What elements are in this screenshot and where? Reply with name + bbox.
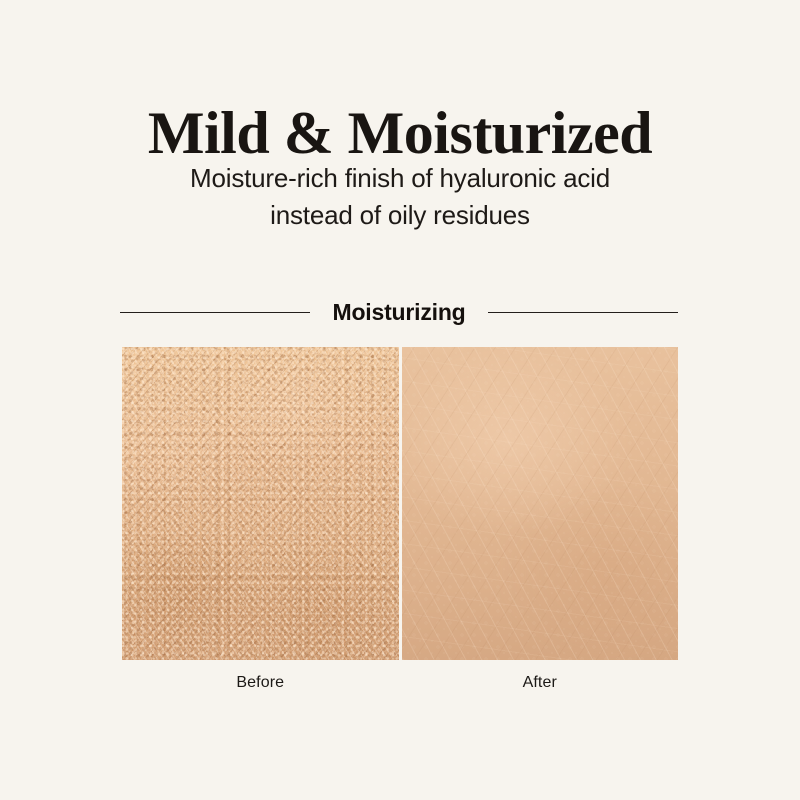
before-image-panel — [122, 347, 399, 660]
subtitle-line-2: instead of oily residues — [100, 197, 700, 234]
divider-rule-right — [488, 312, 678, 313]
divider-rule-left — [120, 312, 310, 313]
after-skin-texture — [402, 347, 679, 660]
subtitle-line-1: Moisture-rich finish of hyaluronic acid — [100, 160, 700, 197]
after-image-panel — [402, 347, 679, 660]
section-label: Moisturizing — [328, 299, 469, 326]
before-caption: Before — [122, 668, 399, 698]
after-caption: After — [402, 668, 679, 698]
product-benefit-card: Mild & Moisturized Moisture-rich finish … — [0, 0, 800, 800]
comparison-captions: Before After — [122, 668, 678, 698]
section-divider: Moisturizing — [120, 298, 678, 326]
subtitle: Moisture-rich finish of hyaluronic acid … — [100, 160, 700, 234]
before-skin-texture — [122, 347, 399, 660]
page-title: Mild & Moisturized — [0, 102, 800, 165]
before-after-comparison — [122, 347, 678, 660]
